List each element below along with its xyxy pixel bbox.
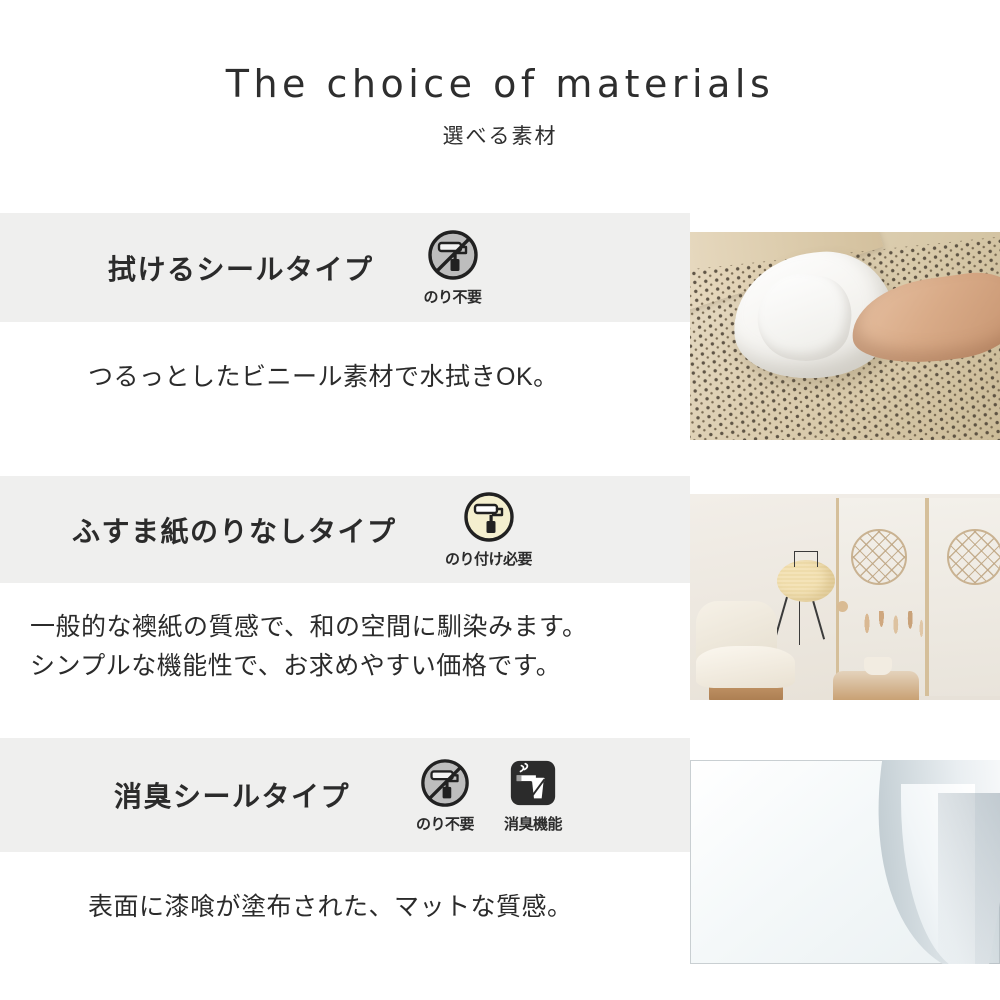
section-1-header: 拭けるシールタイプ のり不要 [0,213,690,322]
no-glue-roller-icon [426,228,480,282]
section-2-badges: のり付け必要 [429,490,549,569]
armchair-seat [696,646,795,687]
section-1-description: つるっとしたビニール素材で水拭きOK。 [88,358,668,397]
badge-no-glue: のり不要 [408,757,482,834]
section-2-title: ふすま紙のりなしタイプ [72,510,397,550]
no-glue-roller-icon [419,757,471,809]
section-1-photo [690,232,1000,440]
fusuma-door-right [926,498,1000,696]
badge-glue-required: のり付け必要 [429,490,549,569]
section-3-photo [690,760,1000,964]
page-title: The choice of materials [0,0,1000,106]
badge-label: のり不要 [416,813,474,834]
badge-label: のり不要 [424,286,482,307]
lamp-cap [794,551,818,567]
side-table [833,671,920,700]
sheet-shadow [938,793,1000,964]
section-3-description: 表面に漆喰が塗布された、マットな質感。 [88,888,668,927]
page-subtitle: 選べる素材 [0,106,1000,150]
lamp-leg [799,597,801,645]
section-3-header: 消臭シールタイプ のり不要 [0,738,690,852]
section-3-badges: のり不要 消臭機能 [408,757,570,834]
section-1-badges: のり不要 [416,228,490,307]
section-2-photo [690,494,1000,700]
deodorizing-function-icon [507,757,559,809]
lattice-circle-2 [947,529,1000,585]
badge-label: のり付け必要 [445,548,532,569]
section-2-header: ふすま紙のりなしタイプ のり付け必要 [0,476,690,583]
badge-label: 消臭機能 [504,813,562,834]
badge-no-glue: のり不要 [416,228,490,307]
section-3-title: 消臭シールタイプ [114,775,350,815]
glue-required-roller-icon [462,490,516,544]
plant-pot [864,657,892,675]
page-header: The choice of materials 選べる素材 [0,0,1000,150]
section-1-title: 拭けるシールタイプ [108,248,374,288]
lattice-circle-1 [851,529,907,585]
section-2-description: 一般的な襖紙の質感で、和の空間に馴染みます。 シンプルな機能性で、お求めやすい価… [30,608,680,686]
badge-deodorizing: 消臭機能 [496,757,570,834]
